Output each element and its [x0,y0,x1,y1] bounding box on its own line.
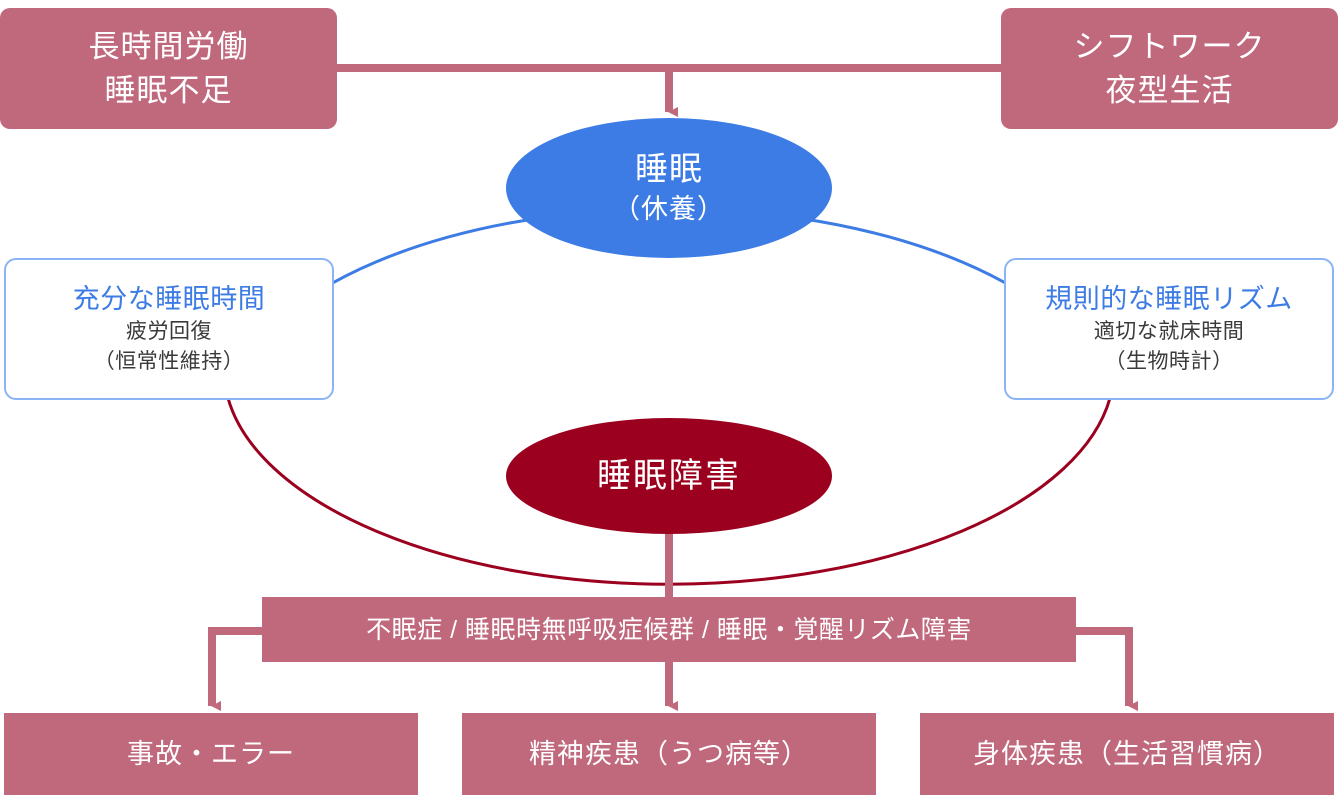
factor-box-sufficient-sleep-body2: （恒常性維持） [94,347,245,377]
connector-types-to-right-outcome [1076,631,1129,706]
cause-box-shiftwork-line2: 夜型生活 [1106,69,1234,113]
outcome-box-accidents-label: 事故・エラー [127,736,295,772]
disorder-types-bar[interactable]: 不眠症 / 睡眠時無呼吸症候群 / 睡眠・覚醒リズム障害 [262,597,1076,662]
connector-types-to-left-outcome [212,631,262,706]
outcome-box-mental-illness[interactable]: 精神疾患（うつ病等） [462,713,876,795]
factor-box-sufficient-sleep-head: 充分な睡眠時間 [73,281,266,317]
sleep-disorder-ellipse-title: 睡眠障害 [597,454,741,498]
outcome-box-physical-illness[interactable]: 身体疾患（生活習慣病） [920,713,1334,795]
factor-box-regular-rhythm-body2: （生物時計） [1105,347,1234,377]
sleep-ellipse[interactable]: 睡眠 （休養） [506,118,832,258]
factor-box-sufficient-sleep[interactable]: 充分な睡眠時間 疲労回復 （恒常性維持） [4,258,334,400]
factor-box-regular-rhythm-body1: 適切な就床時間 [1094,317,1245,347]
outcome-box-physical-illness-label: 身体疾患（生活習慣病） [973,736,1281,772]
disorder-types-bar-label: 不眠症 / 睡眠時無呼吸症候群 / 睡眠・覚醒リズム障害 [366,613,972,647]
factor-box-regular-rhythm[interactable]: 規則的な睡眠リズム 適切な就床時間 （生物時計） [1004,258,1334,400]
factor-box-regular-rhythm-head: 規則的な睡眠リズム [1045,281,1293,317]
factor-box-sufficient-sleep-body1: 疲労回復 [126,317,212,347]
diagram-canvas: 長時間労働 睡眠不足 シフトワーク 夜型生活 睡眠 （休養） 充分な睡眠時間 疲… [0,0,1338,804]
outcome-box-mental-illness-label: 精神疾患（うつ病等） [529,736,809,772]
cause-box-overwork-line1: 長時間労働 [89,25,249,69]
sleep-disorder-ellipse[interactable]: 睡眠障害 [506,418,832,534]
outcome-box-accidents[interactable]: 事故・エラー [4,713,418,795]
sleep-ellipse-subtitle: （休養） [613,190,725,228]
cause-box-shiftwork-line1: シフトワーク [1074,25,1266,69]
cause-box-overwork-line2: 睡眠不足 [105,69,233,113]
cause-box-overwork[interactable]: 長時間労働 睡眠不足 [0,8,337,129]
sleep-ellipse-title: 睡眠 [635,148,703,190]
cause-box-shiftwork[interactable]: シフトワーク 夜型生活 [1001,8,1338,129]
